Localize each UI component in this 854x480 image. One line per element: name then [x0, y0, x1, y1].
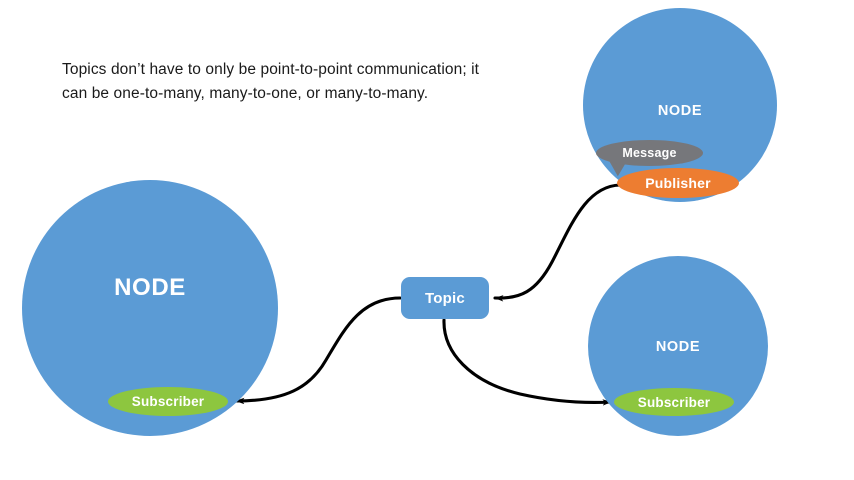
topic-box[interactable]: Topic — [401, 277, 489, 319]
publisher-pill[interactable]: Publisher — [617, 168, 739, 198]
subscriber-label-left: Subscriber — [132, 394, 205, 409]
arrow-topic-to-subscriber-right — [444, 320, 611, 402]
subscriber-pill-right[interactable]: Subscriber — [614, 388, 734, 416]
message-callout[interactable]: Message — [596, 140, 703, 166]
node-label-left: NODE — [22, 274, 278, 302]
diagram-canvas: Topics don’t have to only be point-to-po… — [0, 0, 854, 480]
node-label-top-right: NODE — [583, 103, 777, 119]
node-label-bottom-right: NODE — [588, 339, 768, 355]
message-label: Message — [622, 146, 676, 160]
subscriber-pill-left[interactable]: Subscriber — [108, 387, 228, 416]
publisher-label: Publisher — [645, 175, 711, 191]
subscriber-label-right: Subscriber — [638, 395, 711, 410]
topic-label: Topic — [425, 290, 465, 307]
arrow-publisher-to-topic — [495, 185, 620, 298]
